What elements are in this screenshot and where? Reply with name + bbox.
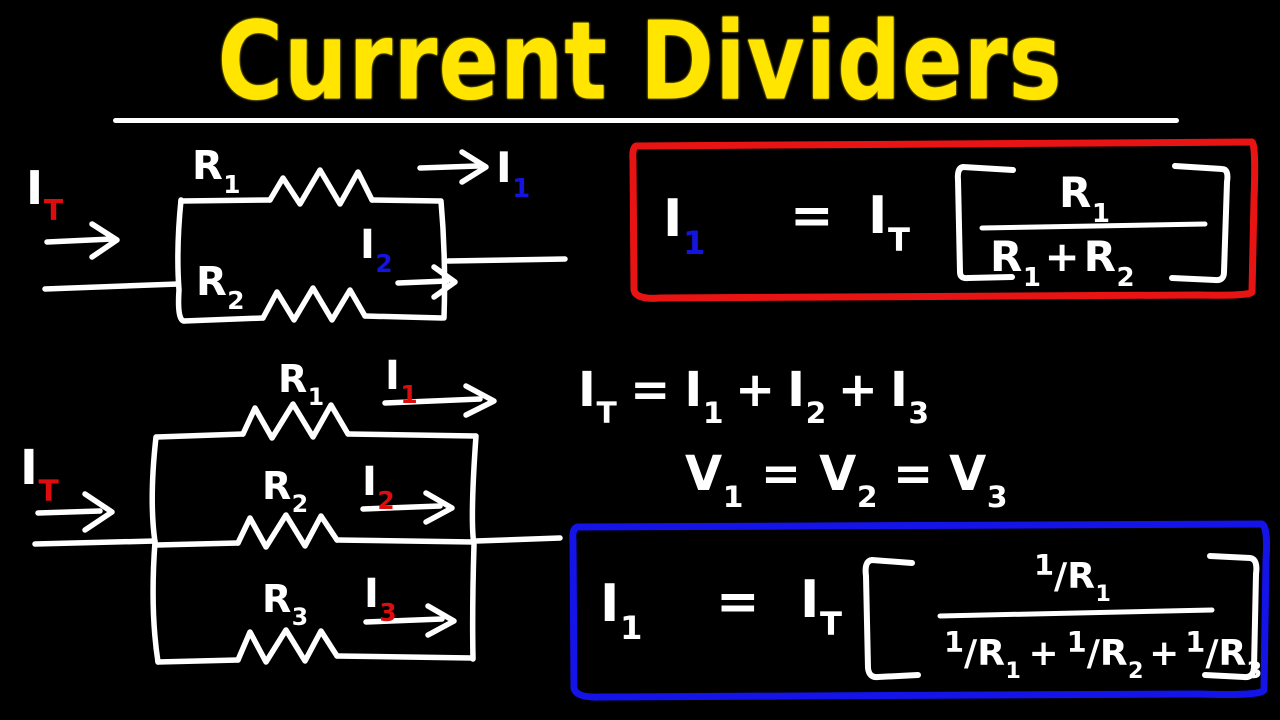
c2-output-wire (476, 538, 560, 541)
c1-output-wire (448, 259, 565, 261)
red-formula-multiplier: IT (868, 190, 909, 250)
blue-formula-multiplier: IT (800, 574, 841, 634)
c1-left-node (178, 200, 184, 321)
c2-input-wire (35, 541, 155, 544)
c1-right-node (441, 201, 445, 318)
c2-b2-wire-left (157, 543, 238, 545)
c2-resistor-1-label: R1 (278, 360, 324, 405)
kcl-equation: IT=I1+I2+I3 (578, 366, 929, 422)
c1-bottom-wire-left (184, 318, 263, 321)
title-underline (113, 118, 1179, 123)
c1-resistor-1-label: R1 (192, 146, 240, 193)
equal-voltage-equation: V1=V2=V3 (685, 450, 1007, 506)
c2-b1-wire-left (157, 434, 243, 437)
c2-resistor-1-symbol (243, 404, 348, 438)
c1-input-wire (45, 284, 178, 289)
red-formula-denominator: R1+R2 (990, 236, 1134, 285)
c1-top-wire-left (181, 200, 270, 201)
red-formula-lhs: I1 (663, 193, 705, 253)
blue-formula-denominator: 1/R1+1/R2+1/R3 (944, 628, 1262, 678)
c2-input-arrow-shaft (38, 511, 100, 513)
c1-branch-1-current-label: I1 (496, 147, 530, 196)
blue-left-bracket (866, 560, 918, 677)
c2-branch-2-current-label: I2 (362, 462, 394, 509)
c1-input-current-label: IT (26, 165, 63, 220)
c2-resistor-3-label: R3 (262, 580, 308, 625)
c1-input-arrow-shaft (47, 239, 112, 242)
c1-i1-arrow-shaft (420, 166, 478, 168)
c1-resistor-1-symbol (270, 170, 372, 204)
c1-branch-2-current-label: I2 (360, 225, 392, 272)
c2-right-bus (472, 436, 476, 659)
red-formula-numerator: R1 (1059, 172, 1109, 221)
c2-b3-wire-right (337, 656, 472, 658)
c1-bottom-wire-right (365, 316, 442, 318)
blue-formula-numerator: 1/R1 (1034, 551, 1110, 601)
red-formula-box[interactable] (633, 142, 1255, 298)
whiteboard-canvas: Current Dividers (0, 0, 1280, 720)
circuit-one-drawing (45, 152, 565, 321)
c2-branch-1-current-label: I1 (385, 356, 417, 403)
page-title: Current Dividers (45, 8, 1235, 116)
c1-resistor-2-label: R2 (196, 262, 244, 309)
c1-top-wire-right (372, 200, 440, 201)
c2-resistor-3-symbol (238, 630, 337, 662)
blue-fraction-bar (940, 610, 1212, 616)
red-formula-equals: = (790, 190, 834, 242)
c2-input-current-label: IT (20, 444, 58, 500)
c2-b1-wire-right (348, 434, 475, 436)
c2-resistor-2-label: R2 (262, 467, 308, 512)
c2-left-bus (152, 437, 158, 662)
c1-resistor-2-symbol (263, 288, 365, 320)
blue-formula-equals: = (716, 576, 760, 628)
c1-i2-arrow-shaft (398, 281, 447, 283)
c2-resistor-2-symbol (238, 515, 337, 547)
red-box-border[interactable] (633, 142, 1255, 298)
blue-formula-lhs: I1 (600, 578, 642, 638)
c2-branch-3-current-label: I3 (364, 574, 396, 621)
c2-b3-wire-left (158, 660, 238, 662)
c2-b2-wire-right (337, 540, 474, 542)
